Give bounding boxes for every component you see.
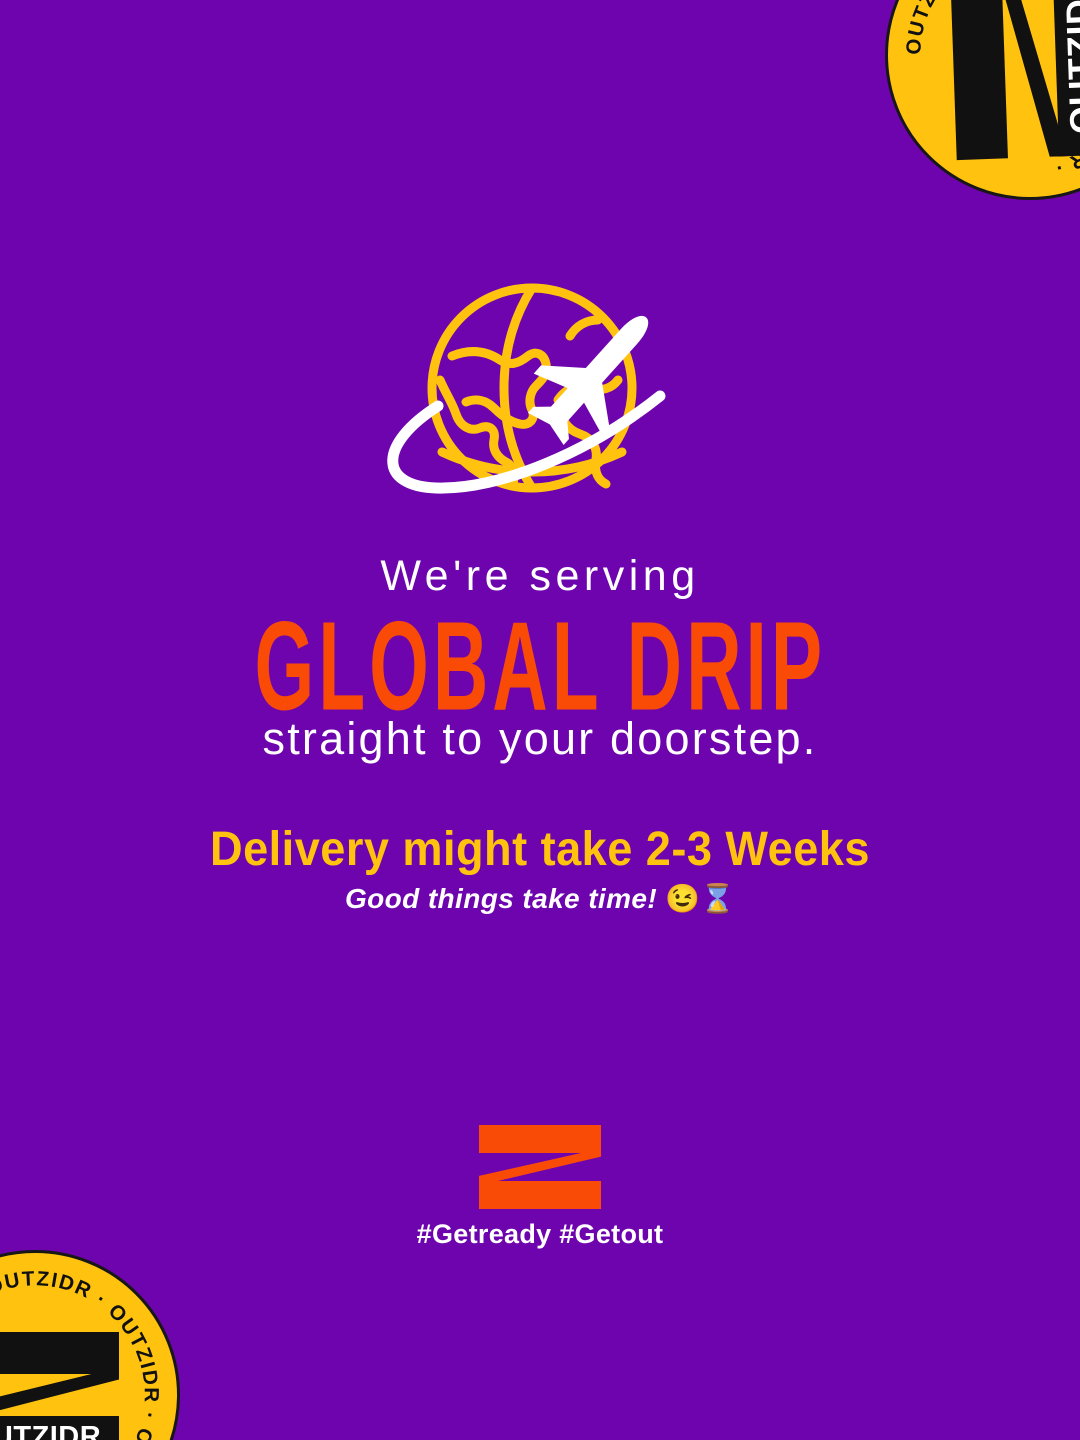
delivery-notice-text: Delivery might take 2-3 Weeks bbox=[210, 822, 870, 877]
delivery-subnote-text: Good things take time! bbox=[345, 883, 657, 914]
z-logo-diagonal bbox=[479, 1149, 601, 1186]
footer-z-logo-icon bbox=[479, 1125, 601, 1209]
z-logo-top-bar bbox=[479, 1125, 601, 1153]
z-logo-icon bbox=[479, 1125, 601, 1209]
z-logo-bottom-bar bbox=[479, 1181, 601, 1209]
wink-hourglass-emoji: 😉⌛ bbox=[665, 883, 735, 914]
brand-badge-bottom-left: OUTZIDR · OUTZIDR · OUTZIDR · OUTZIDR · … bbox=[0, 1250, 180, 1440]
globe-airplane-icon bbox=[360, 276, 720, 506]
headline-title-text: GLOBAL DRIP bbox=[254, 604, 826, 731]
brand-badge-top-right: OUTZIDR · OUTZIDR · OUTZIDR · OUTZIDR · … bbox=[885, 0, 1080, 200]
delivery-notice: Delivery might take 2-3 Weeks bbox=[0, 822, 1080, 877]
footer-hashtags: #Getready #Getout bbox=[0, 1219, 1080, 1250]
z-logo-top-bar bbox=[0, 1332, 119, 1374]
z-logo-top-bar bbox=[950, 0, 1008, 160]
badge-core-word-bottom-left: OUTZIDR bbox=[0, 1416, 119, 1440]
delivery-subnote: Good things take time! 😉⌛ bbox=[0, 882, 1080, 915]
headline-eyebrow: We're serving bbox=[0, 552, 1080, 601]
poster-canvas: OUTZIDR · OUTZIDR · OUTZIDR · OUTZIDR · … bbox=[0, 0, 1080, 1440]
z-logo-diagonal bbox=[0, 1367, 119, 1422]
headline-tail: straight to your doorstep. bbox=[0, 713, 1080, 765]
badge-core-bottom-left: OUTZIDR bbox=[0, 1332, 119, 1440]
headline-title: GLOBAL DRIP bbox=[0, 604, 1080, 731]
badge-core-top-right: OUTZIDR bbox=[950, 0, 1080, 160]
